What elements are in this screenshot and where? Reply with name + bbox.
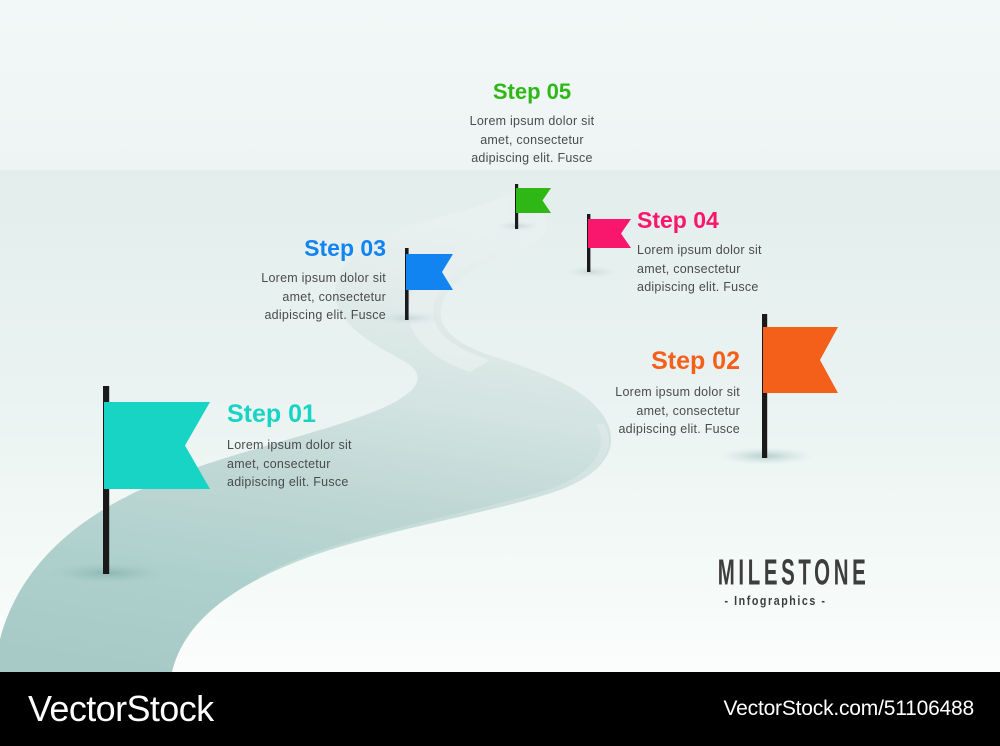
step-body-line: amet, consectetur — [190, 288, 386, 307]
step-title-04: Step 04 — [637, 208, 847, 232]
banner-pink — [588, 219, 631, 248]
step-body-02: Lorem ipsum dolor sit amet, consectetur … — [537, 383, 740, 439]
banner-green — [516, 188, 551, 213]
milestone-logo: MILESTONE - Infographics - — [688, 554, 863, 607]
step-title-03: Step 03 — [190, 236, 386, 260]
step-title-01: Step 01 — [227, 401, 437, 427]
step-body-line: adipiscing elit. Fusce — [227, 473, 437, 492]
step-body-line: Lorem ipsum dolor sit — [434, 112, 630, 131]
step-body-line: adipiscing elit. Fusce — [434, 149, 630, 168]
step-body-line: adipiscing elit. Fusce — [537, 420, 740, 439]
step-body-line: adipiscing elit. Fusce — [190, 306, 386, 325]
step-body-01: Lorem ipsum dolor sit amet, consectetur … — [227, 436, 437, 492]
step-body-line: Lorem ipsum dolor sit — [637, 241, 847, 260]
banner-teal — [104, 402, 210, 489]
vectorstock-url: VectorStock.com/51106488 — [724, 697, 974, 721]
step-block-04: Step 04 Lorem ipsum dolor sit amet, cons… — [637, 208, 847, 297]
flag-teal[interactable] — [86, 386, 216, 582]
step-title-02: Step 02 — [537, 348, 740, 374]
step-title-05: Step 05 — [434, 80, 630, 103]
banner-blue — [406, 254, 453, 290]
step-body-line: adipiscing elit. Fusce — [637, 278, 847, 297]
infographic-canvas: Step 05 Lorem ipsum dolor sit amet, cons… — [0, 0, 1000, 746]
footer-bar: VectorStock VectorStock.com/51106488 — [0, 672, 1000, 746]
step-body-line: Lorem ipsum dolor sit — [227, 436, 437, 455]
vectorstock-brand: VectorStock — [28, 688, 214, 730]
milestone-subtitle: - Infographics - — [704, 594, 848, 607]
step-body-05: Lorem ipsum dolor sit amet, consectetur … — [434, 112, 630, 168]
step-body-line: amet, consectetur — [227, 455, 437, 474]
flag-blue[interactable] — [400, 248, 462, 324]
step-block-01: Step 01 Lorem ipsum dolor sit amet, cons… — [227, 401, 437, 492]
step-body-line: Lorem ipsum dolor sit — [537, 383, 740, 402]
step-body-line: amet, consectetur — [537, 402, 740, 421]
step-body-03: Lorem ipsum dolor sit amet, consectetur … — [190, 269, 386, 325]
scene: Step 05 Lorem ipsum dolor sit amet, cons… — [0, 0, 1000, 672]
flag-green[interactable] — [511, 184, 557, 232]
flag-orange[interactable] — [752, 314, 846, 464]
step-body-04: Lorem ipsum dolor sit amet, consectetur … — [637, 241, 847, 297]
step-block-05: Step 05 Lorem ipsum dolor sit amet, cons… — [434, 80, 630, 168]
flag-pink[interactable] — [583, 214, 639, 276]
step-body-line: amet, consectetur — [434, 131, 630, 150]
milestone-wordmark: MILESTONE — [718, 554, 834, 591]
step-body-line: amet, consectetur — [637, 260, 847, 279]
step-block-02: Step 02 Lorem ipsum dolor sit amet, cons… — [537, 348, 740, 439]
banner-orange — [763, 327, 838, 393]
step-block-03: Step 03 Lorem ipsum dolor sit amet, cons… — [190, 236, 386, 325]
step-body-line: Lorem ipsum dolor sit — [190, 269, 386, 288]
